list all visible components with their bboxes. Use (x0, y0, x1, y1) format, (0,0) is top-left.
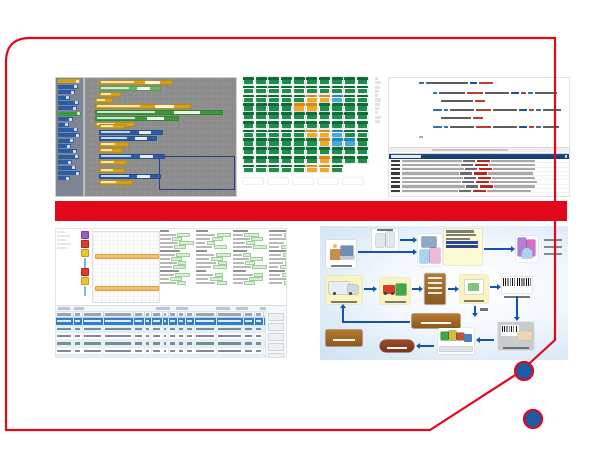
table-cell[interactable] (104, 318, 134, 324)
code-block-2-1[interactable] (99, 130, 163, 135)
code-block-4-1[interactable] (99, 174, 161, 179)
column-header-4[interactable] (134, 312, 145, 317)
table-cell[interactable] (145, 318, 152, 324)
table-cell[interactable] (104, 340, 134, 346)
table-cell[interactable] (83, 348, 104, 354)
column-header-3[interactable] (104, 312, 134, 317)
table-cell[interactable] (178, 355, 186, 358)
status-card-r3-c7[interactable] (332, 103, 343, 110)
status-card-r5-c7[interactable] (332, 121, 343, 128)
table-cell[interactable] (217, 348, 244, 354)
table-cell[interactable] (255, 333, 265, 339)
status-card-r5-c1[interactable] (256, 121, 267, 128)
board-schedule-sheet[interactable] (92, 231, 160, 303)
table-cell[interactable] (163, 333, 170, 339)
palette-block-18[interactable] (58, 176, 70, 180)
status-card-r8-c2[interactable] (268, 147, 279, 154)
column-header-5[interactable] (145, 312, 152, 317)
code-block-3-1[interactable] (99, 154, 165, 159)
palette-block-4[interactable] (58, 101, 79, 105)
status-card-r2-c5[interactable] (306, 95, 317, 102)
gantt-bar-1[interactable] (95, 286, 159, 291)
data-grid-body[interactable] (56, 318, 286, 358)
board-node-rail[interactable] (80, 231, 90, 301)
table-cell[interactable] (134, 355, 145, 358)
table-cell[interactable] (178, 318, 186, 324)
table-cell[interactable] (83, 318, 104, 324)
status-card-r3-c6[interactable] (319, 103, 330, 110)
data-grid[interactable] (56, 305, 286, 357)
status-card-r5-c9[interactable] (357, 121, 368, 128)
table-cell[interactable] (163, 355, 170, 358)
block-socket[interactable] (155, 105, 174, 108)
status-card-r10-c7[interactable] (332, 165, 343, 172)
table-row[interactable] (56, 333, 286, 340)
status-card-r4-c2[interactable] (268, 112, 279, 119)
status-card-r6-c1[interactable] (256, 130, 267, 137)
status-card-r0-c8[interactable] (344, 77, 355, 84)
status-card-r6-c9[interactable] (357, 130, 368, 137)
status-card-r5-c3[interactable] (281, 121, 292, 128)
table-cell[interactable] (134, 318, 145, 324)
board-node-1[interactable] (81, 240, 89, 248)
log-row-7[interactable] (389, 189, 569, 193)
table-cell[interactable] (104, 355, 134, 358)
grid-side-button-4[interactable] (268, 353, 284, 358)
toolbar-item-3[interactable] (176, 307, 188, 309)
status-card-r2-c3[interactable] (281, 95, 292, 102)
status-card-r4-c7[interactable] (332, 112, 343, 119)
table-cell[interactable] (178, 333, 186, 339)
status-card-r5-c5[interactable] (306, 121, 317, 128)
code-block-0-2[interactable] (99, 92, 121, 97)
palette-block-14[interactable] (58, 155, 79, 159)
table-cell[interactable] (56, 333, 74, 339)
table-cell[interactable] (152, 348, 163, 354)
grid-side-button-2[interactable] (268, 333, 284, 341)
table-cell[interactable] (178, 348, 186, 354)
table-cell[interactable] (255, 340, 265, 346)
status-card-r0-c9[interactable] (357, 77, 368, 84)
table-cell[interactable] (74, 348, 82, 354)
column-header-7[interactable] (163, 312, 170, 317)
status-card-r9-c8[interactable] (344, 156, 355, 163)
status-card-r7-c8[interactable] (344, 138, 355, 145)
grid-side-button-0[interactable] (268, 313, 284, 321)
status-card-r6-c4[interactable] (294, 130, 305, 137)
table-cell[interactable] (178, 326, 186, 332)
status-card-r3-c8[interactable] (344, 103, 355, 110)
status-card-r9-c7[interactable] (332, 156, 343, 163)
status-card-r8-c1[interactable] (256, 147, 267, 154)
palette-block-17[interactable] (58, 171, 80, 175)
table-cell[interactable] (255, 355, 265, 358)
status-card-r3-c2[interactable] (268, 103, 279, 110)
status-card-r4-c1[interactable] (256, 112, 267, 119)
status-card-r7-c5[interactable] (306, 138, 317, 145)
table-cell[interactable] (56, 340, 74, 346)
table-cell[interactable] (169, 355, 177, 358)
column-header-2[interactable] (83, 312, 104, 317)
status-card-r6-c0[interactable] (243, 130, 254, 137)
table-cell[interactable] (244, 340, 255, 346)
column-header-12[interactable] (217, 312, 244, 317)
status-card-r8-c9[interactable] (357, 147, 368, 154)
column-header-10[interactable] (186, 312, 196, 317)
status-card-r5-c0[interactable] (243, 121, 254, 128)
column-header-11[interactable] (195, 312, 216, 317)
table-cell[interactable] (104, 326, 134, 332)
table-cell[interactable] (186, 326, 196, 332)
code-editor-panel[interactable] (388, 77, 570, 197)
code-block-3-2[interactable] (99, 160, 127, 165)
table-cell[interactable] (163, 318, 170, 324)
palette-block-1[interactable] (58, 85, 78, 89)
table-cell[interactable] (169, 333, 177, 339)
column-header-13[interactable] (244, 312, 255, 317)
palette-block-12[interactable] (58, 144, 71, 148)
table-row[interactable] (56, 340, 286, 347)
code-block-1-1[interactable] (95, 104, 191, 109)
status-card-r0-c7[interactable] (332, 77, 343, 84)
status-card-r1-c0[interactable] (243, 86, 254, 93)
table-cell[interactable] (195, 333, 216, 339)
board-node-0[interactable] (81, 231, 89, 239)
palette-block-15[interactable] (58, 160, 72, 164)
close-icon[interactable] (565, 155, 567, 157)
palette-block-5[interactable] (58, 106, 77, 110)
table-cell[interactable] (217, 340, 244, 346)
status-card-r5-c2[interactable] (268, 121, 279, 128)
table-cell[interactable] (186, 355, 196, 358)
table-cell[interactable] (255, 318, 265, 324)
status-card-grid[interactable] (243, 77, 368, 172)
table-cell[interactable] (244, 348, 255, 354)
toolbar-item-6[interactable] (260, 307, 266, 309)
status-card-r8-c3[interactable] (281, 147, 292, 154)
status-card-r6-c8[interactable] (344, 130, 355, 137)
table-cell[interactable] (195, 340, 216, 346)
status-card-r7-c7[interactable] (332, 138, 343, 145)
status-card-r9-c4[interactable] (294, 156, 305, 163)
table-cell[interactable] (152, 355, 163, 358)
table-cell[interactable] (163, 340, 170, 346)
planning-board-top[interactable] (56, 229, 286, 303)
toolbar-item-4[interactable] (216, 307, 230, 309)
status-card-r6-c2[interactable] (268, 130, 279, 137)
table-cell[interactable] (255, 326, 265, 332)
block-stack-3[interactable] (99, 148, 165, 166)
status-card-r3-c1[interactable] (256, 103, 267, 110)
status-card-r3-c5[interactable] (306, 103, 317, 110)
status-card-r1-c6[interactable] (319, 86, 330, 93)
column-header-1[interactable] (74, 312, 82, 317)
palette-block-11[interactable] (58, 139, 74, 143)
table-cell[interactable] (104, 348, 134, 354)
status-card-r1-c2[interactable] (268, 86, 279, 93)
table-row[interactable] (56, 348, 286, 355)
table-cell[interactable] (104, 333, 134, 339)
status-card-r0-c0[interactable] (243, 77, 254, 84)
table-cell[interactable] (163, 348, 170, 354)
status-card-r7-c3[interactable] (281, 138, 292, 145)
table-cell[interactable] (244, 326, 255, 332)
table-cell[interactable] (145, 333, 152, 339)
table-cell[interactable] (134, 348, 145, 354)
status-card-r2-c9[interactable] (357, 95, 368, 102)
toolbar-item-5[interactable] (236, 307, 248, 309)
table-cell[interactable] (195, 326, 216, 332)
table-cell[interactable] (83, 340, 104, 346)
table-cell[interactable] (134, 340, 145, 346)
status-card-r7-c6[interactable] (319, 138, 330, 145)
table-cell[interactable] (186, 348, 196, 354)
table-cell[interactable] (56, 355, 74, 358)
status-card-r9-c9[interactable] (357, 156, 368, 163)
table-row[interactable] (56, 326, 286, 333)
status-card-r2-c1[interactable] (256, 95, 267, 102)
blocks-programming-editor[interactable] (55, 77, 237, 197)
table-cell[interactable] (74, 333, 82, 339)
status-card-r3-c0[interactable] (243, 103, 254, 110)
palette-block-2[interactable] (58, 90, 75, 94)
table-row[interactable] (56, 355, 286, 358)
status-card-r1-c9[interactable] (357, 86, 368, 93)
code-block-2-3[interactable] (99, 142, 129, 147)
block-socket[interactable] (174, 111, 200, 114)
status-card-r10-c4[interactable] (294, 165, 305, 172)
status-card-r1-c8[interactable] (344, 86, 355, 93)
status-card-r8-c0[interactable] (243, 147, 254, 154)
palette-block-16[interactable] (58, 166, 76, 170)
block-socket[interactable] (137, 87, 149, 90)
status-card-r0-c4[interactable] (294, 77, 305, 84)
block-socket[interactable] (140, 155, 153, 158)
status-card-r1-c5[interactable] (306, 86, 317, 93)
status-card-r9-c6[interactable] (319, 156, 330, 163)
status-card-r10-c5[interactable] (306, 165, 317, 172)
status-card-r10-c1[interactable] (256, 165, 267, 172)
status-card-r9-c5[interactable] (306, 156, 317, 163)
table-cell[interactable] (169, 340, 177, 346)
block-socket[interactable] (137, 175, 149, 178)
status-card-r6-c6[interactable] (319, 130, 330, 137)
table-cell[interactable] (152, 340, 163, 346)
status-card-r9-c1[interactable] (256, 156, 267, 163)
board-node-4[interactable] (81, 268, 89, 276)
status-card-r0-c5[interactable] (306, 77, 317, 84)
status-card-r7-c2[interactable] (268, 138, 279, 145)
block-stack-0[interactable] (99, 80, 173, 98)
table-cell[interactable] (217, 355, 244, 358)
table-cell[interactable] (145, 348, 152, 354)
palette-block-6[interactable] (58, 112, 81, 116)
status-card-r2-c7[interactable] (332, 95, 343, 102)
table-cell[interactable] (217, 333, 244, 339)
table-cell[interactable] (56, 348, 74, 354)
block-socket[interactable] (135, 137, 147, 140)
block-stack-4[interactable] (99, 168, 161, 186)
code-block-0-1[interactable] (99, 86, 161, 91)
table-cell[interactable] (74, 355, 82, 358)
column-header-0[interactable] (56, 312, 74, 317)
table-cell[interactable] (255, 348, 265, 354)
table-cell[interactable] (74, 326, 82, 332)
table-cell[interactable] (145, 340, 152, 346)
status-card-r9-c0[interactable] (243, 156, 254, 163)
table-cell[interactable] (83, 333, 104, 339)
status-card-r8-c5[interactable] (306, 147, 317, 154)
log-row-list[interactable] (389, 159, 569, 193)
table-cell[interactable] (145, 355, 152, 358)
status-card-r7-c1[interactable] (256, 138, 267, 145)
column-header-8[interactable] (169, 312, 177, 317)
table-cell[interactable] (244, 318, 255, 324)
data-grid-side-buttons[interactable] (265, 311, 286, 357)
table-cell[interactable] (152, 326, 163, 332)
status-card-r10-c3[interactable] (281, 165, 292, 172)
status-card-r8-c8[interactable] (344, 147, 355, 154)
block-socket[interactable] (147, 117, 164, 120)
status-card-r0-c2[interactable] (268, 77, 279, 84)
board-node-2[interactable] (81, 249, 89, 257)
palette-block-10[interactable] (58, 133, 80, 137)
table-cell[interactable] (74, 318, 82, 324)
table-cell[interactable] (195, 348, 216, 354)
toolbar-item-2[interactable] (156, 307, 170, 309)
table-cell[interactable] (169, 318, 177, 324)
table-cell[interactable] (152, 318, 163, 324)
toolbar-item-1[interactable] (74, 307, 84, 309)
status-card-r9-c2[interactable] (268, 156, 279, 163)
status-card-r0-c1[interactable] (256, 77, 267, 84)
code-block-4-0[interactable] (99, 168, 125, 173)
palette-block-3[interactable] (58, 96, 70, 100)
code-block-3-0[interactable] (99, 148, 123, 153)
table-cell[interactable] (83, 326, 104, 332)
status-card-r7-c9[interactable] (357, 138, 368, 145)
status-card-r4-c4[interactable] (294, 112, 305, 119)
status-card-r4-c6[interactable] (319, 112, 330, 119)
status-card-r2-c0[interactable] (243, 95, 254, 102)
status-card-r8-c6[interactable] (319, 147, 330, 154)
status-card-grid-panel[interactable] (243, 77, 383, 195)
code-block-1-0[interactable] (95, 98, 113, 103)
status-card-r2-c2[interactable] (268, 95, 279, 102)
status-card-r4-c3[interactable] (281, 112, 292, 119)
status-card-r6-c7[interactable] (332, 130, 343, 137)
planning-board-panel[interactable] (55, 228, 287, 358)
block-stack-2[interactable] (99, 124, 163, 148)
grid-side-button-1[interactable] (268, 323, 284, 331)
code-block-1-2[interactable] (95, 110, 223, 115)
status-card-r3-c3[interactable] (281, 103, 292, 110)
toolbar-item-0[interactable] (58, 307, 70, 309)
status-card-r5-c4[interactable] (294, 121, 305, 128)
table-cell[interactable] (217, 326, 244, 332)
status-card-r3-c9[interactable] (357, 103, 368, 110)
palette-block-13[interactable] (58, 149, 77, 153)
status-card-r4-c8[interactable] (344, 112, 355, 119)
column-header-6[interactable] (152, 312, 163, 317)
status-card-r5-c8[interactable] (344, 121, 355, 128)
status-card-r1-c3[interactable] (281, 86, 292, 93)
palette-block-7[interactable] (58, 117, 73, 121)
code-block-2-2[interactable] (99, 136, 157, 141)
blocks-palette[interactable] (56, 78, 85, 196)
status-card-r0-c3[interactable] (281, 77, 292, 84)
code-block-1-3[interactable] (95, 116, 179, 121)
table-cell[interactable] (217, 318, 244, 324)
table-cell[interactable] (186, 333, 196, 339)
status-card-r8-c4[interactable] (294, 147, 305, 154)
block-socket[interactable] (139, 131, 152, 134)
code-horizontal-scrollbar[interactable] (389, 147, 569, 152)
table-cell[interactable] (186, 318, 196, 324)
table-cell[interactable] (152, 333, 163, 339)
table-row[interactable] (56, 318, 286, 325)
table-cell[interactable] (145, 326, 152, 332)
grid-side-button-3[interactable] (268, 343, 284, 351)
column-header-9[interactable] (178, 312, 186, 317)
status-card-r4-c5[interactable] (306, 112, 317, 119)
status-card-r2-c4[interactable] (294, 95, 305, 102)
status-card-r10-c0[interactable] (243, 165, 254, 172)
status-card-r3-c4[interactable] (294, 103, 305, 110)
table-cell[interactable] (195, 318, 216, 324)
table-cell[interactable] (244, 355, 255, 358)
status-card-r4-c9[interactable] (357, 112, 368, 119)
table-cell[interactable] (186, 340, 196, 346)
console-log-panel[interactable] (389, 153, 569, 196)
table-cell[interactable] (244, 333, 255, 339)
status-card-r10-c6[interactable] (319, 165, 330, 172)
palette-block-0[interactable] (58, 79, 80, 83)
status-card-r6-c5[interactable] (306, 130, 317, 137)
table-cell[interactable] (169, 348, 177, 354)
table-cell[interactable] (169, 326, 177, 332)
status-card-r5-c6[interactable] (319, 121, 330, 128)
status-card-r2-c8[interactable] (344, 95, 355, 102)
code-text-area[interactable] (389, 78, 569, 146)
table-cell[interactable] (163, 326, 170, 332)
status-card-r9-c3[interactable] (281, 156, 292, 163)
table-cell[interactable] (195, 355, 216, 358)
table-cell[interactable] (134, 326, 145, 332)
status-card-r8-c7[interactable] (332, 147, 343, 154)
table-cell[interactable] (74, 340, 82, 346)
status-card-r1-c1[interactable] (256, 86, 267, 93)
block-socket[interactable] (145, 81, 160, 84)
board-node-5[interactable] (81, 277, 89, 285)
status-card-r7-c4[interactable] (294, 138, 305, 145)
status-card-r2-c6[interactable] (319, 95, 330, 102)
palette-block-8[interactable] (58, 123, 69, 127)
table-cell[interactable] (56, 318, 74, 324)
code-block-2-0[interactable] (99, 124, 125, 129)
table-cell[interactable] (56, 326, 74, 332)
gantt-bar-0[interactable] (95, 254, 159, 259)
palette-block-9[interactable] (58, 128, 78, 132)
status-card-r1-c7[interactable] (332, 86, 343, 93)
code-block-4-2[interactable] (99, 180, 133, 185)
table-cell[interactable] (134, 333, 145, 339)
status-card-r6-c3[interactable] (281, 130, 292, 137)
code-block-0-0[interactable] (99, 80, 173, 85)
blocks-workspace-canvas[interactable] (85, 78, 236, 196)
status-card-r7-c0[interactable] (243, 138, 254, 145)
table-cell[interactable] (83, 355, 104, 358)
